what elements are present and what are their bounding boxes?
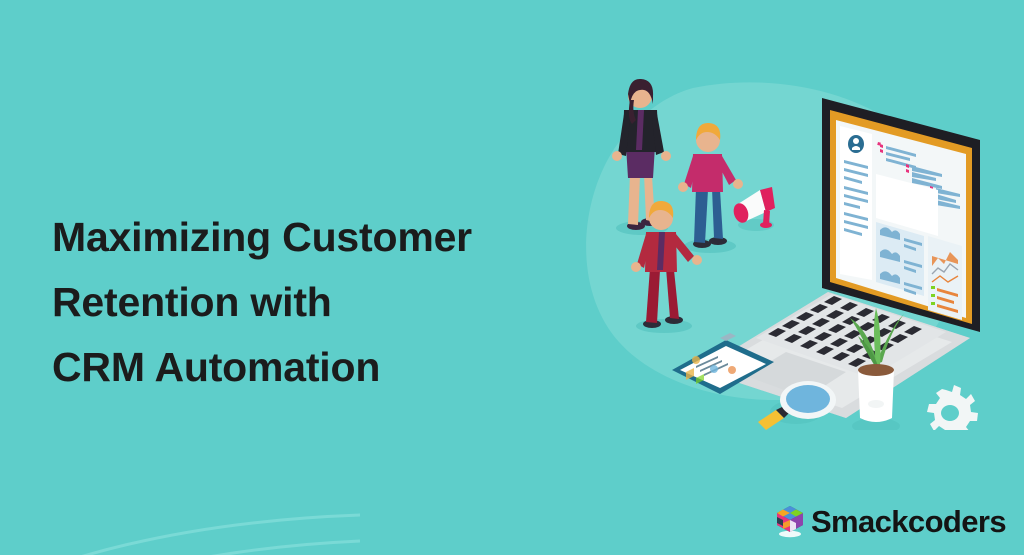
headline-line-2: Retention with xyxy=(52,270,572,335)
person-red-suit xyxy=(631,201,702,328)
crm-teamwork-desk-illustration xyxy=(560,70,1024,430)
headline-line-3: CRM Automation xyxy=(52,335,572,400)
brand-name: Smackcoders xyxy=(811,506,1006,537)
banner-hero: Maximizing Customer Retention with CRM A… xyxy=(0,0,1024,555)
dashboard-chart-panel xyxy=(928,236,962,320)
page-title: Maximizing Customer Retention with CRM A… xyxy=(52,205,572,400)
colorful-cube-icon xyxy=(773,503,807,539)
decorative-arcs xyxy=(0,375,360,555)
megaphone-icon xyxy=(731,187,775,231)
headline-line-1: Maximizing Customer xyxy=(52,205,572,270)
person-pink-top xyxy=(678,123,743,248)
gear-icon xyxy=(927,385,978,430)
brand-logo[interactable]: Smackcoders xyxy=(773,503,1006,539)
